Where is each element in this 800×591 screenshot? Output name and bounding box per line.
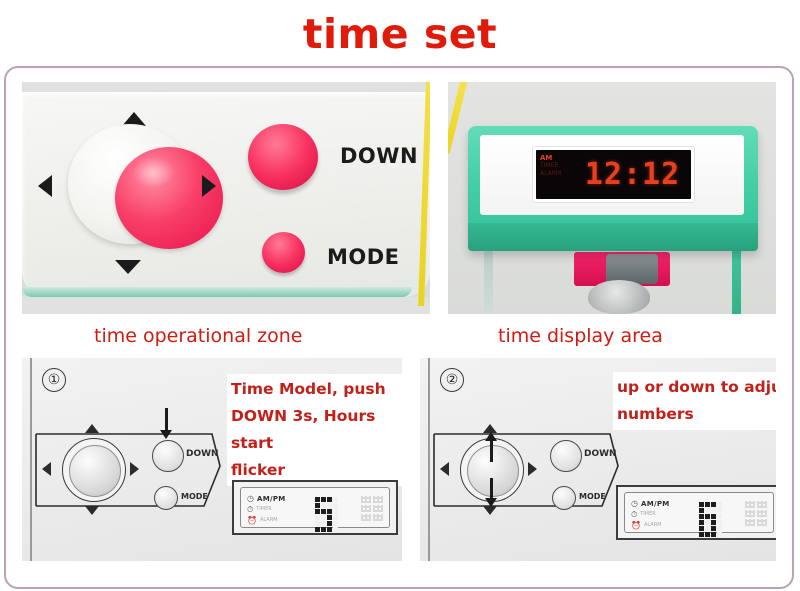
frame-post-right — [732, 250, 741, 314]
lcd-timer-label: TIMER — [256, 507, 271, 513]
led-time-readout: 12:12 — [576, 152, 689, 197]
diagram-mode-button — [552, 486, 576, 510]
lcd-alarm-label: ALARM — [644, 523, 662, 529]
step-2-keypad-diagram: DOWN MODE — [432, 416, 632, 526]
press-arrow-head-icon — [160, 430, 172, 439]
step-2-line-1: up or down to adjust — [617, 374, 776, 401]
diagram-mode-label: MODE — [181, 492, 208, 501]
lcd-indicator-column: ◷ AM/PM ⏱ TIMER ⏰ ALARM — [631, 498, 693, 531]
lcd-inactive-digits — [349, 496, 383, 521]
press-arrow-shaft — [165, 408, 168, 432]
led-indicators: AM TIMER ALARM — [540, 154, 580, 178]
photo-display-area: AM TIMER ALARM 12:12 — [448, 82, 776, 314]
title-bar: time set — [0, 0, 800, 68]
diagram-arrow-right-icon — [528, 462, 537, 476]
instruction-row: ① Time Model, push DOWN 3s, Hours start … — [22, 358, 776, 561]
diagram-down-label: DOWN — [186, 449, 219, 459]
lcd-indicator-column: ◷ AM/PM ⏱ TIMER ⏰ ALARM — [247, 493, 309, 526]
step-1-line-1: Time Model, push — [231, 376, 402, 403]
step-2-text: up or down to adjust numbers — [613, 372, 776, 430]
diagram-mode-label: MODE — [579, 492, 606, 501]
panel-background — [22, 297, 430, 314]
alarm-indicator: ALARM — [540, 170, 580, 178]
caption-operational-zone: time operational zone — [22, 325, 430, 347]
lcd-alarm-label: ALARM — [260, 518, 278, 524]
step-1-lcd: ◷ AM/PM ⏱ TIMER ⏰ ALARM — [232, 480, 398, 535]
page-title: time set — [303, 14, 497, 55]
caption-display-area: time display area — [430, 325, 776, 347]
step-1-line-2: DOWN 3s, Hours start — [231, 403, 402, 457]
yellow-cable-secondary — [448, 82, 468, 154]
diagram-joystick-ball — [69, 445, 121, 497]
display-housing: AM TIMER ALARM 12:12 — [468, 126, 758, 251]
lcd-ampm-label: AM/PM — [641, 500, 670, 508]
lcd-timer-label: TIMER — [640, 512, 655, 518]
mode-button[interactable] — [262, 232, 305, 273]
adjust-arrow-down-head-icon — [485, 498, 497, 507]
photo-control-panel: DOWN MODE — [22, 82, 430, 314]
lcd-inactive-digits — [733, 501, 767, 526]
diagram-arrow-down-icon — [483, 506, 497, 515]
step-2-lcd: ◷ AM/PM ⏱ TIMER ⏰ ALARM — [616, 485, 776, 540]
arrow-left-icon — [38, 175, 52, 197]
diagram-down-button — [152, 440, 184, 472]
joystick-base — [68, 124, 192, 244]
adjust-arrow-down-shaft — [490, 478, 493, 500]
adjust-arrow-up-shaft — [490, 440, 493, 462]
diagram-mode-button — [154, 486, 178, 510]
diagram-arrow-left-icon — [440, 462, 449, 476]
content-frame: DOWN MODE — [4, 66, 794, 589]
lcd-active-digit-1 — [315, 497, 341, 531]
mode-button-label: MODE — [327, 245, 400, 269]
caption-row: time operational zone time display area — [22, 314, 776, 358]
panel-teal-trim — [22, 287, 412, 297]
diagram-joystick-ball — [467, 445, 519, 497]
diagram-arrow-up-icon — [85, 424, 99, 433]
step-1-text: Time Model, push DOWN 3s, Hours start fl… — [227, 374, 402, 486]
diagram-joystick — [62, 438, 126, 502]
claw-grabber — [588, 280, 650, 314]
bell-icon: ⏱ — [247, 505, 253, 515]
step-1-keypad-diagram: DOWN MODE — [34, 416, 234, 526]
instruction-step-2: ② up or down to adjust numbers DOWN — [420, 358, 776, 561]
arrow-right-icon — [202, 175, 216, 197]
step-2-line-2: numbers — [617, 401, 776, 428]
step-number-2: ② — [440, 368, 464, 392]
diagram-down-button — [550, 440, 582, 472]
clock-icon: ◷ — [247, 494, 254, 503]
machine-frame — [482, 250, 744, 314]
diagram-arrow-left-icon — [42, 462, 51, 476]
am-indicator: AM — [540, 154, 580, 162]
frame-post-left — [484, 250, 493, 314]
step-number-1: ① — [42, 368, 66, 392]
diagram-arrow-down-icon — [85, 506, 99, 515]
down-button-label: DOWN — [340, 144, 418, 168]
diagram-arrow-right-icon — [130, 462, 139, 476]
bell-icon: ⏱ — [631, 510, 637, 520]
timer-indicator: TIMER — [540, 162, 580, 170]
display-faceplate: AM TIMER ALARM 12:12 — [480, 135, 744, 215]
arrow-down-icon — [115, 260, 141, 274]
lcd-active-digit-2 — [699, 502, 725, 536]
display-bezel: AM TIMER ALARM 12:12 — [532, 146, 695, 203]
joystick-knob[interactable] — [115, 147, 223, 249]
alarm-icon: ⏰ — [247, 516, 257, 525]
led-screen: AM TIMER ALARM 12:12 — [536, 150, 691, 199]
lcd-ampm-label: AM/PM — [257, 495, 286, 503]
alarm-icon: ⏰ — [631, 521, 641, 530]
clock-icon: ◷ — [631, 499, 638, 508]
photo-row: DOWN MODE — [22, 82, 776, 314]
diagram-down-label: DOWN — [584, 449, 617, 459]
down-button[interactable] — [248, 124, 318, 190]
instruction-step-1: ① Time Model, push DOWN 3s, Hours start … — [22, 358, 402, 561]
